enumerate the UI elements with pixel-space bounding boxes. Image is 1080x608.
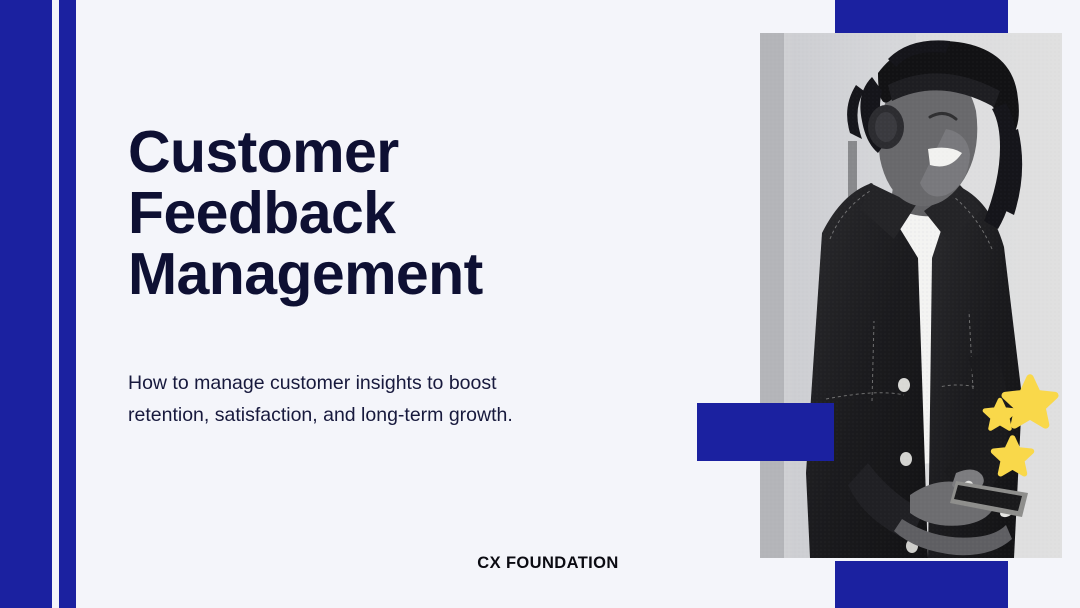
bottom-right-blue-bar [835, 561, 1008, 608]
blue-accent-block [697, 403, 834, 461]
top-right-blue-bar [835, 0, 1008, 33]
slide-subtitle: How to manage customer insights to boost… [128, 367, 598, 431]
left-thin-blue-bar [59, 0, 76, 608]
presentation-slide: Customer Feedback Management How to mana… [0, 0, 1080, 608]
left-wide-blue-bar [0, 0, 52, 608]
page-title: Customer Feedback Management [128, 122, 688, 305]
brand-logo-text: CX FOUNDATION [477, 554, 618, 573]
hero-photo [760, 33, 1062, 558]
hero-photo-illustration [760, 33, 1062, 558]
